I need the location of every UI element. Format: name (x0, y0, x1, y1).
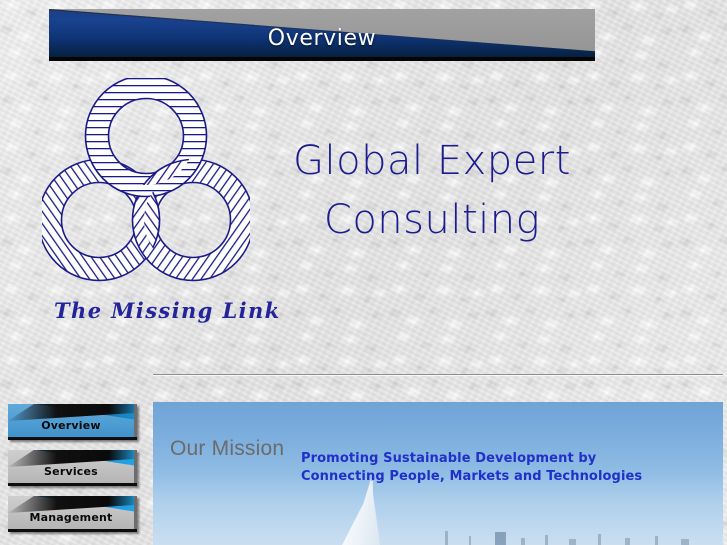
building (569, 539, 576, 545)
sidebar-item-label: Overview (8, 419, 134, 432)
sidebar-item-services[interactable]: Services (8, 450, 137, 486)
nav-button-bottom-edge (8, 437, 137, 440)
city-skyline (433, 527, 723, 545)
mission-statement: Promoting Sustainable Development by Con… (301, 450, 642, 487)
building (598, 534, 601, 545)
company-logo (42, 78, 250, 290)
nav-button-right-edge (134, 450, 137, 486)
banner-base-strip (49, 57, 595, 61)
mission-heading: Our Mission (170, 437, 284, 461)
building (545, 535, 548, 545)
building (655, 536, 658, 545)
building (469, 536, 471, 545)
brand-name-line-1: Global Expert (272, 132, 592, 191)
brand-name-line-2: Consulting (272, 191, 592, 250)
building (495, 532, 506, 545)
building (681, 539, 689, 545)
building (445, 531, 448, 545)
nav-button-right-edge (134, 404, 137, 440)
sidebar-navigation: Overview Services Management (8, 404, 138, 542)
building (521, 538, 525, 545)
nav-button-right-edge (134, 496, 137, 532)
nav-button-bottom-edge (8, 529, 137, 532)
mission-statement-line-1: Promoting Sustainable Development by (301, 450, 642, 468)
three-interlocking-rope-rings-icon (42, 78, 250, 290)
mission-statement-line-2: Connecting People, Markets and Technolog… (301, 468, 642, 486)
brand-name: Global Expert Consulting (272, 132, 592, 250)
content-divider (153, 374, 723, 375)
building (625, 538, 630, 545)
brand-tagline: The Missing Link (54, 298, 281, 323)
sidebar-item-overview[interactable]: Overview (8, 404, 137, 440)
sidebar-item-label: Management (8, 511, 134, 524)
sidebar-item-label: Services (8, 465, 134, 478)
page-title: Overview (49, 26, 595, 51)
sidebar-item-management[interactable]: Management (8, 496, 137, 532)
mission-panel: Our Mission Promoting Sustainable Develo… (153, 402, 723, 545)
nav-button-bottom-edge (8, 483, 137, 486)
header-banner: Overview (49, 9, 595, 61)
